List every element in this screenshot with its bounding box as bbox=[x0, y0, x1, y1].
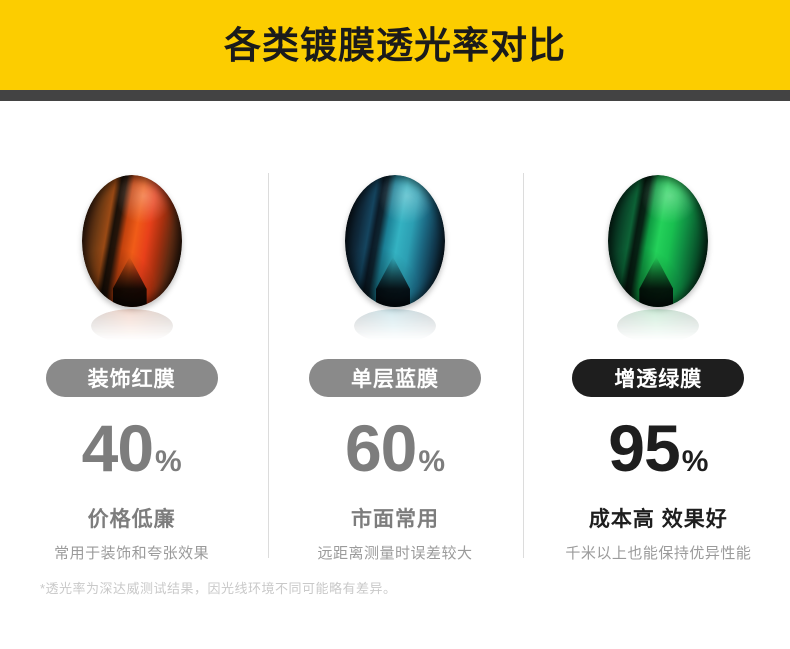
percent-value: 40 bbox=[82, 415, 153, 481]
percent-unit: % bbox=[682, 447, 709, 477]
lens-figure-red bbox=[67, 175, 197, 345]
lens-rim bbox=[608, 175, 708, 307]
transmittance-red: 40 % bbox=[82, 415, 182, 481]
transmittance-green: 95 % bbox=[608, 415, 708, 481]
comparison-column-red: 装饰红膜 40 % 价格低廉 常用于装饰和夸张效果 bbox=[0, 101, 263, 566]
green-coated-lens-icon bbox=[608, 175, 708, 307]
header-banner: 各类镀膜透光率对比 bbox=[0, 0, 790, 90]
transmittance-blue: 60 % bbox=[345, 415, 445, 481]
comparison-columns: 装饰红膜 40 % 价格低廉 常用于装饰和夸张效果 单层蓝膜 60 bbox=[0, 101, 790, 566]
footnote-disclaimer: *透光率为深达威测试结果，因光线环境不同可能略有差异。 bbox=[40, 578, 397, 597]
page-title: 各类镀膜透光率对比 bbox=[224, 27, 566, 64]
badge-green-coating[interactable]: 增透绿膜 bbox=[572, 359, 744, 397]
comparison-column-green: 增透绿膜 95 % 成本高 效果好 千米以上也能保持优异性能 bbox=[527, 101, 790, 566]
caption-main-green: 成本高 效果好 bbox=[589, 503, 728, 533]
percent-unit: % bbox=[418, 447, 445, 477]
caption-sub-green: 千米以上也能保持优异性能 bbox=[565, 542, 751, 563]
caption-sub-blue: 远距离测量时误差较大 bbox=[317, 542, 472, 563]
lens-figure-green bbox=[593, 175, 723, 345]
caption-main-red: 价格低廉 bbox=[88, 503, 176, 533]
percent-value: 60 bbox=[345, 415, 416, 481]
caption-sub-red: 常用于装饰和夸张效果 bbox=[54, 542, 209, 563]
red-coated-lens-icon bbox=[82, 175, 182, 307]
lens-rim bbox=[345, 175, 445, 307]
lens-reflection bbox=[354, 309, 436, 343]
blue-coated-lens-icon bbox=[345, 175, 445, 307]
lens-figure-blue bbox=[330, 175, 460, 345]
badge-blue-coating[interactable]: 单层蓝膜 bbox=[309, 359, 481, 397]
lens-reflection bbox=[91, 309, 173, 343]
comparison-column-blue: 单层蓝膜 60 % 市面常用 远距离测量时误差较大 bbox=[263, 101, 526, 566]
lens-reflection bbox=[617, 309, 699, 343]
lens-rim bbox=[82, 175, 182, 307]
percent-value: 95 bbox=[608, 415, 679, 481]
percent-unit: % bbox=[155, 447, 182, 477]
header-divider-rule bbox=[0, 90, 790, 101]
badge-red-coating[interactable]: 装饰红膜 bbox=[46, 359, 218, 397]
infographic-page: 各类镀膜透光率对比 装饰红膜 40 % 价格低廉 常用于装饰和夸张效果 bbox=[0, 0, 790, 649]
caption-main-blue: 市面常用 bbox=[351, 503, 439, 533]
